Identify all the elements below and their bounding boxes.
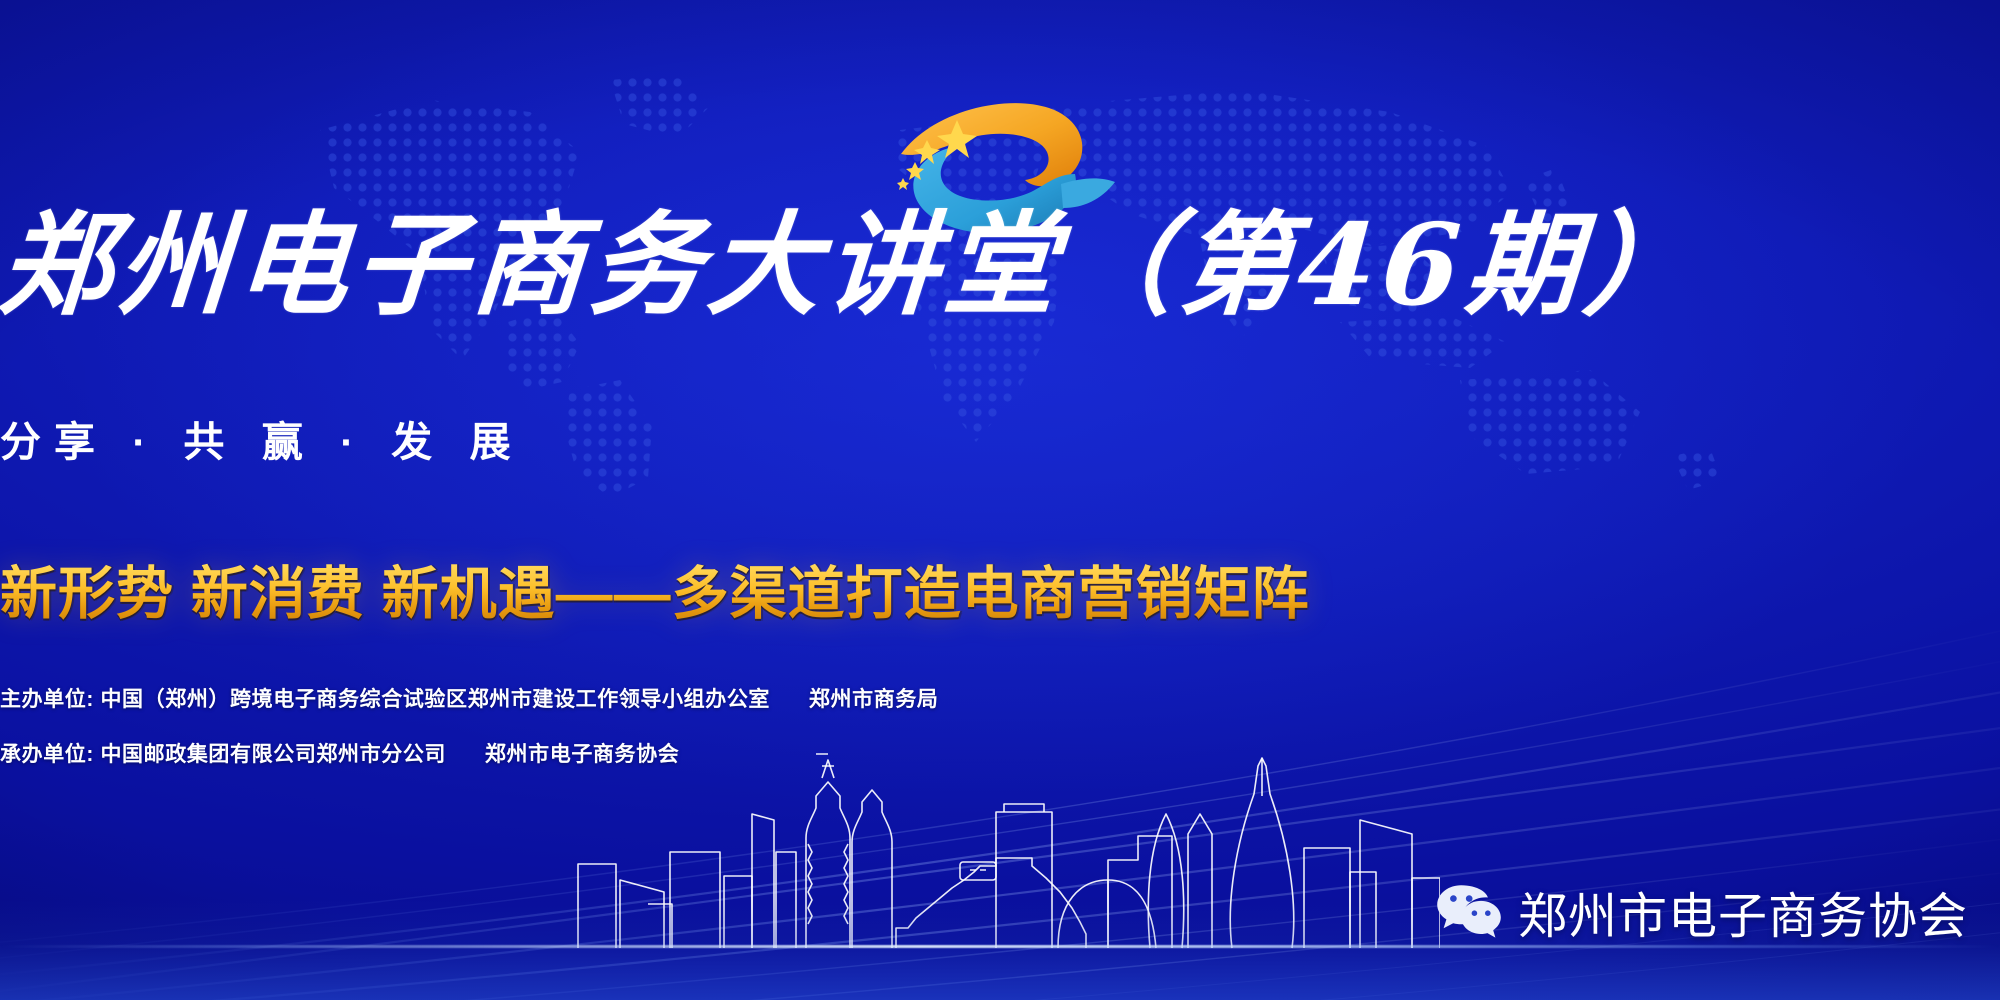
host-label: 主办单位:: [0, 688, 94, 711]
wechat-account-badge[interactable]: 郑州市电子商务协会: [1436, 877, 1968, 948]
cohost-value-2: 郑州市电子商务协会: [485, 743, 679, 766]
cohost-label: 承办单位:: [0, 743, 94, 766]
event-poster: 郑州电子商务大讲堂（第46期） 分享 · 共 赢 · 发 展 新形势 新消费 新…: [0, 0, 2000, 1000]
host-value-1: 中国（郑州）跨境电子商务综合试验区郑州市建设工作领导小组办公室: [100, 688, 770, 711]
host-value-2: 郑州市商务局: [809, 688, 939, 711]
page-title: 郑州电子商务大讲堂（第46期）: [0, 208, 2000, 324]
cohost-value-1: 中国邮政集团有限公司郑州市分公司: [100, 743, 446, 766]
wechat-account-name: 郑州市电子商务协会: [1518, 877, 1968, 948]
slogan: 分享 · 共 赢 · 发 展: [0, 408, 2000, 468]
wechat-icon: [1436, 884, 1502, 942]
host-organizer-line: 主办单位: 中国（郑州）跨境电子商务综合试验区郑州市建设工作领导小组办公室 郑州…: [0, 683, 2000, 713]
topic-headline: 新形势 新消费 新机遇——多渠道打造电商营销矩阵: [0, 548, 2000, 630]
cohost-organizer-line: 承办单位: 中国邮政集团有限公司郑州市分公司 郑州市电子商务协会: [0, 738, 2000, 768]
